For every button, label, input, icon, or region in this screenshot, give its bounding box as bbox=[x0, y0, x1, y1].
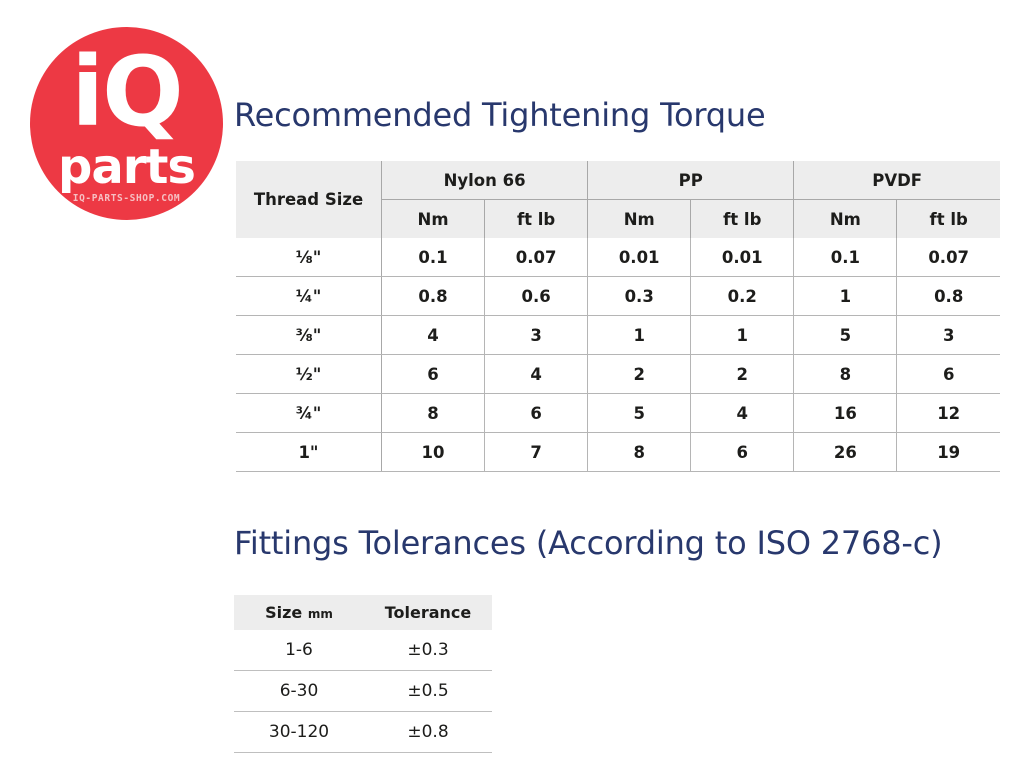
cell-torque-value: 0.2 bbox=[691, 277, 794, 316]
cell-thread-size: 1" bbox=[236, 433, 382, 472]
column-header-pvdf-ftlb: ft lb bbox=[897, 200, 1000, 239]
logo-parts-wordmark: parts bbox=[30, 142, 223, 192]
cell-torque-value: 19 bbox=[897, 433, 1000, 472]
tightening-torque-table: Thread Size Nylon 66 PP PVDF Nm ft lb Nm… bbox=[236, 161, 1000, 472]
cell-torque-value: 6 bbox=[897, 355, 1000, 394]
cell-torque-value: 0.01 bbox=[588, 238, 691, 277]
cell-torque-value: 1 bbox=[794, 277, 897, 316]
cell-torque-value: 4 bbox=[691, 394, 794, 433]
cell-torque-value: 0.8 bbox=[382, 277, 485, 316]
cell-torque-value: 0.8 bbox=[897, 277, 1000, 316]
table-row: 1-6±0.3 bbox=[234, 630, 492, 671]
cell-torque-value: 1 bbox=[588, 316, 691, 355]
cell-tolerance-value: ±0.8 bbox=[364, 712, 492, 753]
column-header-nylon66-nm: Nm bbox=[382, 200, 485, 239]
iq-parts-logo: iQ parts IQ-PARTS-SHOP.COM bbox=[30, 27, 223, 220]
cell-thread-size: ½" bbox=[236, 355, 382, 394]
cell-torque-value: 4 bbox=[382, 316, 485, 355]
tolerance-header-row: Size mm Tolerance bbox=[234, 595, 492, 630]
column-group-header-pp: PP bbox=[588, 161, 794, 200]
column-header-nylon66-ftlb: ft lb bbox=[485, 200, 588, 239]
column-group-header-nylon66: Nylon 66 bbox=[382, 161, 588, 200]
cell-torque-value: 8 bbox=[794, 355, 897, 394]
cell-torque-value: 5 bbox=[794, 316, 897, 355]
cell-torque-value: 26 bbox=[794, 433, 897, 472]
cell-torque-value: 6 bbox=[691, 433, 794, 472]
column-header-pp-nm: Nm bbox=[588, 200, 691, 239]
column-header-size-label: Size bbox=[265, 603, 302, 622]
cell-torque-value: 2 bbox=[691, 355, 794, 394]
torque-table-body: ⅛"0.10.070.010.010.10.07¼"0.80.60.30.210… bbox=[236, 238, 1000, 472]
logo-iq-mark: iQ bbox=[30, 44, 223, 140]
cell-torque-value: 3 bbox=[897, 316, 1000, 355]
cell-size-range: 6-30 bbox=[234, 671, 364, 712]
column-header-size-unit: mm bbox=[308, 607, 333, 621]
cell-torque-value: 5 bbox=[588, 394, 691, 433]
fittings-tolerances-table: Size mm Tolerance 1-6±0.36-30±0.530-120±… bbox=[234, 595, 492, 753]
cell-thread-size: ⅛" bbox=[236, 238, 382, 277]
cell-torque-value: 4 bbox=[485, 355, 588, 394]
cell-size-range: 30-120 bbox=[234, 712, 364, 753]
cell-thread-size: ¼" bbox=[236, 277, 382, 316]
table-row: ⅜"431153 bbox=[236, 316, 1000, 355]
cell-torque-value: 7 bbox=[485, 433, 588, 472]
torque-table-header: Thread Size Nylon 66 PP PVDF Nm ft lb Nm… bbox=[236, 161, 1000, 238]
cell-torque-value: 0.07 bbox=[485, 238, 588, 277]
cell-thread-size: ⅜" bbox=[236, 316, 382, 355]
cell-torque-value: 1 bbox=[691, 316, 794, 355]
table-row: ⅛"0.10.070.010.010.10.07 bbox=[236, 238, 1000, 277]
tolerance-table-header: Size mm Tolerance bbox=[234, 595, 492, 630]
cell-torque-value: 0.1 bbox=[794, 238, 897, 277]
tolerance-section-title: Fittings Tolerances (According to ISO 27… bbox=[234, 524, 942, 562]
cell-torque-value: 3 bbox=[485, 316, 588, 355]
cell-thread-size: ¾" bbox=[236, 394, 382, 433]
table-row: ¼"0.80.60.30.210.8 bbox=[236, 277, 1000, 316]
cell-torque-value: 6 bbox=[382, 355, 485, 394]
tolerance-table-body: 1-6±0.36-30±0.530-120±0.8 bbox=[234, 630, 492, 753]
table-row: 1"107862619 bbox=[236, 433, 1000, 472]
cell-size-range: 1-6 bbox=[234, 630, 364, 671]
cell-torque-value: 6 bbox=[485, 394, 588, 433]
cell-torque-value: 12 bbox=[897, 394, 1000, 433]
column-header-pvdf-nm: Nm bbox=[794, 200, 897, 239]
logo-tagline: IQ-PARTS-SHOP.COM bbox=[30, 193, 223, 204]
cell-torque-value: 2 bbox=[588, 355, 691, 394]
cell-torque-value: 10 bbox=[382, 433, 485, 472]
cell-torque-value: 8 bbox=[382, 394, 485, 433]
cell-torque-value: 0.01 bbox=[691, 238, 794, 277]
torque-header-row-groups: Thread Size Nylon 66 PP PVDF bbox=[236, 161, 1000, 200]
column-header-size: Size mm bbox=[234, 595, 364, 630]
table-row: ½"642286 bbox=[236, 355, 1000, 394]
cell-torque-value: 0.07 bbox=[897, 238, 1000, 277]
column-header-thread-size: Thread Size bbox=[236, 161, 382, 238]
table-row: 6-30±0.5 bbox=[234, 671, 492, 712]
cell-tolerance-value: ±0.3 bbox=[364, 630, 492, 671]
column-header-tolerance: Tolerance bbox=[364, 595, 492, 630]
column-header-pp-ftlb: ft lb bbox=[691, 200, 794, 239]
table-row: 30-120±0.8 bbox=[234, 712, 492, 753]
cell-torque-value: 16 bbox=[794, 394, 897, 433]
cell-torque-value: 8 bbox=[588, 433, 691, 472]
column-group-header-pvdf: PVDF bbox=[794, 161, 1000, 200]
table-row: ¾"86541612 bbox=[236, 394, 1000, 433]
cell-tolerance-value: ±0.5 bbox=[364, 671, 492, 712]
cell-torque-value: 0.3 bbox=[588, 277, 691, 316]
torque-section-title: Recommended Tightening Torque bbox=[234, 96, 765, 134]
cell-torque-value: 0.1 bbox=[382, 238, 485, 277]
cell-torque-value: 0.6 bbox=[485, 277, 588, 316]
